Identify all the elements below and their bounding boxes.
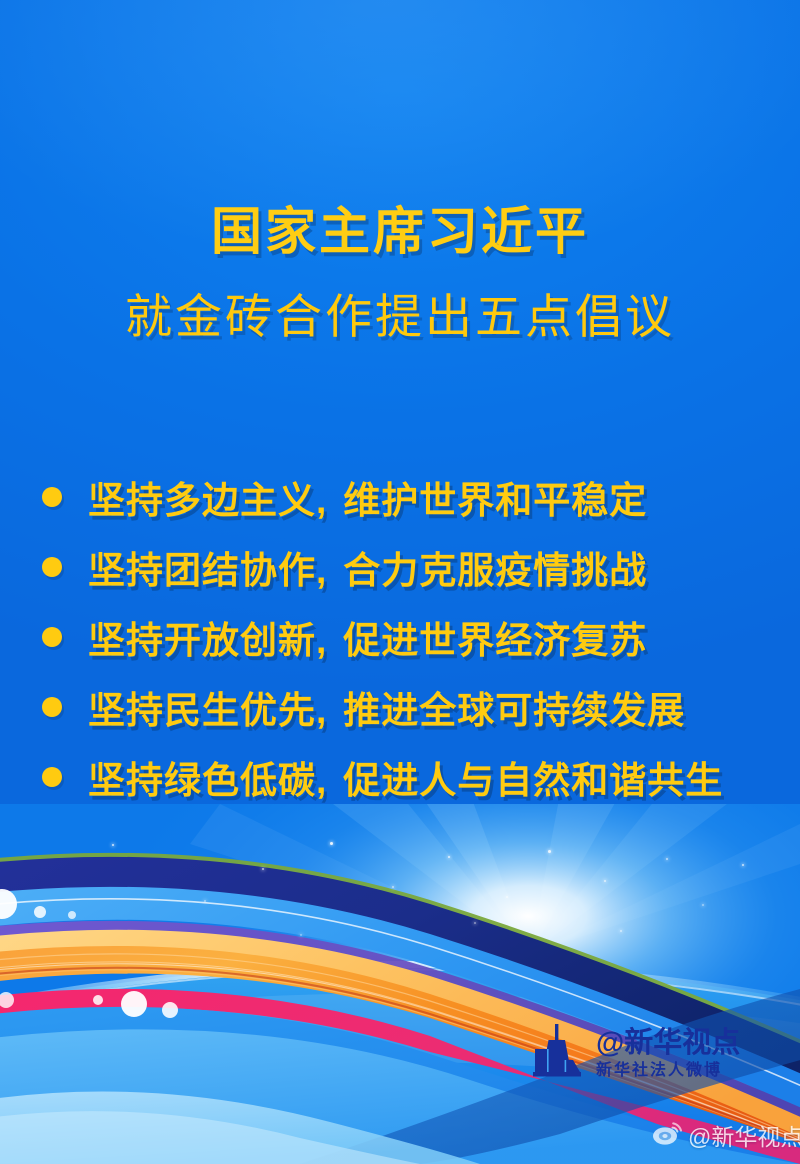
list-item-right: 推进全球可持续发展	[343, 690, 685, 731]
proposal-list: 坚持多边主义,维护世界和平稳定 坚持团结协作,合力克服疫情挑战 坚持开放创新,促…	[42, 462, 772, 812]
list-item: 坚持民生优先,推进全球可持续发展	[42, 672, 772, 742]
logo-tagline: 新华社法人微博	[596, 1063, 740, 1079]
list-item-text: 坚持多边主义,维护世界和平稳定	[88, 470, 647, 524]
bullet-dot-icon	[42, 627, 62, 647]
list-item-left: 坚持开放创新,	[88, 620, 327, 661]
weibo-eye-icon	[652, 1120, 682, 1151]
page-title: 国家主席习近平	[0, 202, 800, 262]
headline-block: 国家主席习近平 就金砖合作提出五点倡议	[0, 202, 800, 345]
list-item-left: 坚持多边主义,	[88, 480, 327, 521]
logo-handle: @新华视点	[596, 1029, 740, 1058]
bullet-dot-icon	[42, 767, 62, 787]
list-item: 坚持多边主义,维护世界和平稳定	[42, 462, 772, 532]
bullet-dot-icon	[42, 697, 62, 717]
watermark-text: @新华视点	[688, 1118, 800, 1152]
list-item-right: 促进世界经济复苏	[343, 620, 647, 661]
bullet-dot-icon	[42, 557, 62, 577]
list-item-text: 坚持团结协作,合力克服疫情挑战	[88, 540, 647, 594]
list-item-text: 坚持开放创新,促进世界经济复苏	[88, 610, 647, 664]
weibo-watermark: @新华视点	[652, 1118, 800, 1152]
list-item-text: 坚持绿色低碳,促进人与自然和谐共生	[88, 750, 723, 804]
list-item-right: 促进人与自然和谐共生	[343, 760, 723, 801]
bullet-dot-icon	[42, 487, 62, 507]
poster-canvas: 国家主席习近平 就金砖合作提出五点倡议 坚持多边主义,维护世界和平稳定 坚持团结…	[0, 0, 800, 1164]
list-item: 坚持开放创新,促进世界经济复苏	[42, 602, 772, 672]
list-item-left: 坚持民生优先,	[88, 690, 327, 731]
list-item-right: 维护世界和平稳定	[343, 480, 647, 521]
logo-text-block: @新华视点 新华社法人微博	[596, 1029, 740, 1079]
list-item: 坚持绿色低碳,促进人与自然和谐共生	[42, 742, 772, 812]
list-item-left: 坚持团结协作,	[88, 550, 327, 591]
list-item: 坚持团结协作,合力克服疫情挑战	[42, 532, 772, 602]
xinhua-tower-emblem-icon	[528, 1022, 586, 1085]
list-item-text: 坚持民生优先,推进全球可持续发展	[88, 680, 685, 734]
xinhua-logo-lockup: @新华视点 新华社法人微博	[528, 1022, 740, 1085]
list-item-left: 坚持绿色低碳,	[88, 760, 327, 801]
list-item-right: 合力克服疫情挑战	[343, 550, 647, 591]
page-subtitle: 就金砖合作提出五点倡议	[0, 289, 800, 344]
decorative-wave-artwork	[0, 804, 800, 1164]
